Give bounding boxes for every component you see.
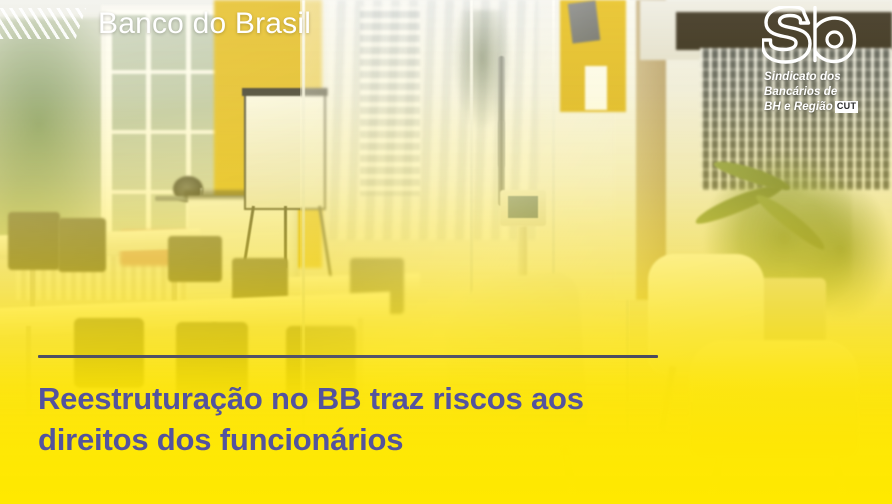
- headline: Reestruturação no BB traz riscos aos dir…: [38, 378, 718, 460]
- logo-line-1: Sindicato dos: [764, 70, 874, 85]
- logo-line-3-wrap: BH e RegiãoCUT: [764, 100, 874, 115]
- cut-badge: CUT: [835, 101, 858, 113]
- sb-monogram-icon: [762, 6, 858, 68]
- logo-line-2: Bancários de: [764, 85, 874, 100]
- news-banner-card: Banco do Brasil Sindicato dos Bancários …: [0, 0, 892, 504]
- diagonal-stripes-icon: [0, 8, 86, 39]
- union-logo: Sindicato dos Bancários de BH e RegiãoCU…: [756, 6, 874, 116]
- headline-line-1: Reestruturação no BB traz riscos aos: [38, 378, 718, 419]
- category-label: Banco do Brasil: [98, 7, 311, 41]
- headline-line-2: direitos dos funcionários: [38, 419, 718, 460]
- union-logo-text: Sindicato dos Bancários de BH e RegiãoCU…: [764, 70, 874, 116]
- headline-divider: [38, 355, 658, 358]
- logo-line-3: BH e Região: [764, 101, 833, 113]
